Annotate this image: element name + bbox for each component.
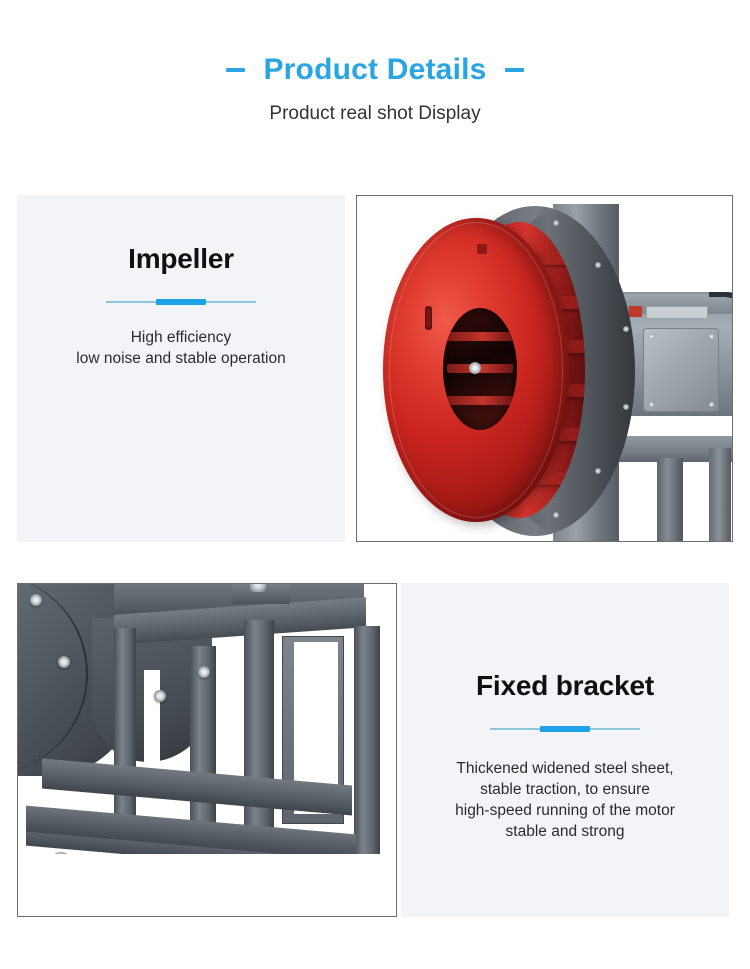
bracket-screw-3: [154, 690, 166, 702]
bracket-window-left: [144, 670, 160, 778]
section-fixed-bracket: Fixed bracket Thickened widened steel sh…: [0, 583, 750, 917]
housing-bolt-1: [553, 220, 559, 226]
section-fixed-bracket-row: Fixed bracket Thickened widened steel sh…: [0, 583, 750, 917]
section-impeller-row: Impeller High efficiency low noise and s…: [0, 195, 750, 542]
fixed-bracket-description-line-4: stable and strong: [455, 821, 675, 842]
impeller-description-line-1: High efficiency: [76, 327, 285, 348]
housing-bolt-2: [595, 262, 601, 268]
impeller-description-line-2: low noise and stable operation: [76, 348, 285, 369]
impeller-text-panel: Impeller High efficiency low noise and s…: [17, 195, 345, 542]
impeller-divider: [106, 299, 256, 305]
impeller-motor-red-label: [629, 306, 642, 317]
housing-bolt-6: [553, 512, 559, 518]
impeller-photo-inner: [357, 196, 732, 541]
bracket-post-left: [114, 628, 136, 840]
bracket-screw-1: [30, 594, 42, 606]
fixed-bracket-description-line-3: high-speed running of the motor: [455, 800, 675, 821]
divider-core: [540, 726, 590, 732]
divider-core: [156, 299, 206, 305]
fixed-bracket-photo-inner: [18, 584, 396, 916]
housing-bolt-5: [595, 468, 601, 474]
junction-screw-4: [709, 402, 714, 407]
fixed-bracket-description-line-1: Thickened widened steel sheet,: [455, 758, 675, 779]
impeller-support-leg-1: [657, 458, 683, 542]
inlet-blade-3: [447, 396, 513, 405]
impeller-photo: [356, 195, 733, 542]
bracket-window-center: [224, 658, 242, 784]
impeller-support-leg-2: [709, 448, 731, 542]
junction-screw-3: [649, 402, 654, 407]
bracket-post-center: [244, 620, 274, 856]
housing-bolt-3: [623, 326, 629, 332]
page-title: Product Details: [263, 52, 486, 88]
impeller-junction-box: [643, 328, 719, 412]
bracket-screw-4: [198, 666, 210, 678]
fixed-bracket-description: Thickened widened steel sheet, stable tr…: [455, 758, 675, 842]
impeller-shroud-tab: [477, 244, 487, 254]
dash-right-icon: [505, 68, 524, 72]
bracket-floor-background: [18, 854, 397, 916]
fixed-bracket-divider: [490, 726, 640, 732]
fixed-bracket-description-line-2: stable traction, to ensure: [455, 779, 675, 800]
product-details-page: Product Details Product real shot Displa…: [0, 0, 750, 969]
page-title-row: Product Details: [0, 52, 750, 88]
impeller-motor-nameplate: [646, 306, 708, 319]
housing-bolt-4: [623, 404, 629, 410]
fixed-bracket-photo: [17, 583, 397, 917]
impeller-heading: Impeller: [128, 242, 234, 276]
impeller-shroud-slot: [425, 306, 432, 330]
fixed-bracket-text-panel: Fixed bracket Thickened widened steel sh…: [401, 583, 729, 917]
fixed-bracket-heading: Fixed bracket: [476, 669, 654, 703]
bracket-top-bolt-head: [250, 583, 266, 592]
bracket-screw-2: [58, 656, 70, 668]
junction-screw-2: [709, 334, 714, 339]
impeller-description: High efficiency low noise and stable ope…: [76, 327, 285, 369]
junction-screw-1: [649, 334, 654, 339]
bracket-post-right: [354, 626, 380, 856]
page-header: Product Details Product real shot Displa…: [0, 52, 750, 126]
impeller-motor-cable: [709, 292, 733, 320]
inlet-blade-1: [447, 332, 513, 341]
impeller-hub-center: [469, 362, 481, 374]
page-subtitle: Product real shot Display: [0, 102, 750, 126]
section-impeller: Impeller High efficiency low noise and s…: [0, 195, 750, 542]
dash-left-icon: [226, 68, 245, 72]
